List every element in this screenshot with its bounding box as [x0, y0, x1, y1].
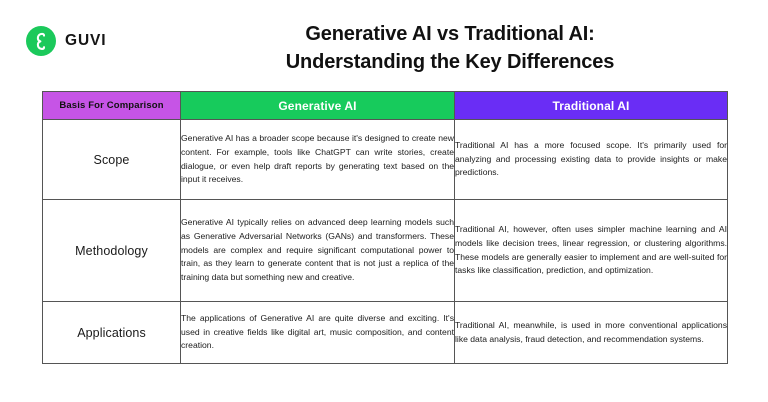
- cell-traditional-applications: Traditional AI, meanwhile, is used in mo…: [455, 302, 728, 364]
- row-label-methodology: Methodology: [43, 200, 181, 302]
- row-label-scope: Scope: [43, 120, 181, 200]
- table-row: Scope Generative AI has a broader scope …: [43, 120, 728, 200]
- cell-text: Generative AI has a broader scope becaus…: [181, 132, 454, 188]
- cell-traditional-methodology: Traditional AI, however, often uses simp…: [455, 200, 728, 302]
- cell-text: Traditional AI, however, often uses simp…: [455, 223, 727, 279]
- page-title-line-2: Understanding the Key Differences: [150, 48, 750, 76]
- column-header-traditional-ai: Traditional AI: [455, 92, 728, 120]
- cell-generative-applications: The applications of Generative AI are qu…: [181, 302, 455, 364]
- cell-generative-scope: Generative AI has a broader scope becaus…: [181, 120, 455, 200]
- comparison-table-container: Basis For Comparison Generative AI Tradi…: [42, 91, 727, 364]
- column-header-generative-ai: Generative AI: [181, 92, 455, 120]
- column-header-basis: Basis For Comparison: [43, 92, 181, 120]
- guvi-g-logo-icon: [26, 26, 56, 56]
- cell-text: Traditional AI, meanwhile, is used in mo…: [455, 319, 727, 347]
- cell-traditional-scope: Traditional AI has a more focused scope.…: [455, 120, 728, 200]
- table-row: Methodology Generative AI typically reli…: [43, 200, 728, 302]
- page-title-line-1: Generative AI vs Traditional AI:: [150, 20, 750, 48]
- row-label-applications: Applications: [43, 302, 181, 364]
- table-header-row: Basis For Comparison Generative AI Tradi…: [43, 92, 728, 120]
- brand-name: GUVI: [65, 33, 107, 49]
- cell-text: Generative AI typically relies on advanc…: [181, 216, 454, 286]
- table-row: Applications The applications of Generat…: [43, 302, 728, 364]
- page-title: Generative AI vs Traditional AI: Underst…: [150, 20, 750, 77]
- cell-text: The applications of Generative AI are qu…: [181, 312, 454, 354]
- comparison-table: Basis For Comparison Generative AI Tradi…: [42, 91, 728, 364]
- brand-logo: GUVI: [26, 26, 107, 56]
- cell-generative-methodology: Generative AI typically relies on advanc…: [181, 200, 455, 302]
- cell-text: Traditional AI has a more focused scope.…: [455, 139, 727, 181]
